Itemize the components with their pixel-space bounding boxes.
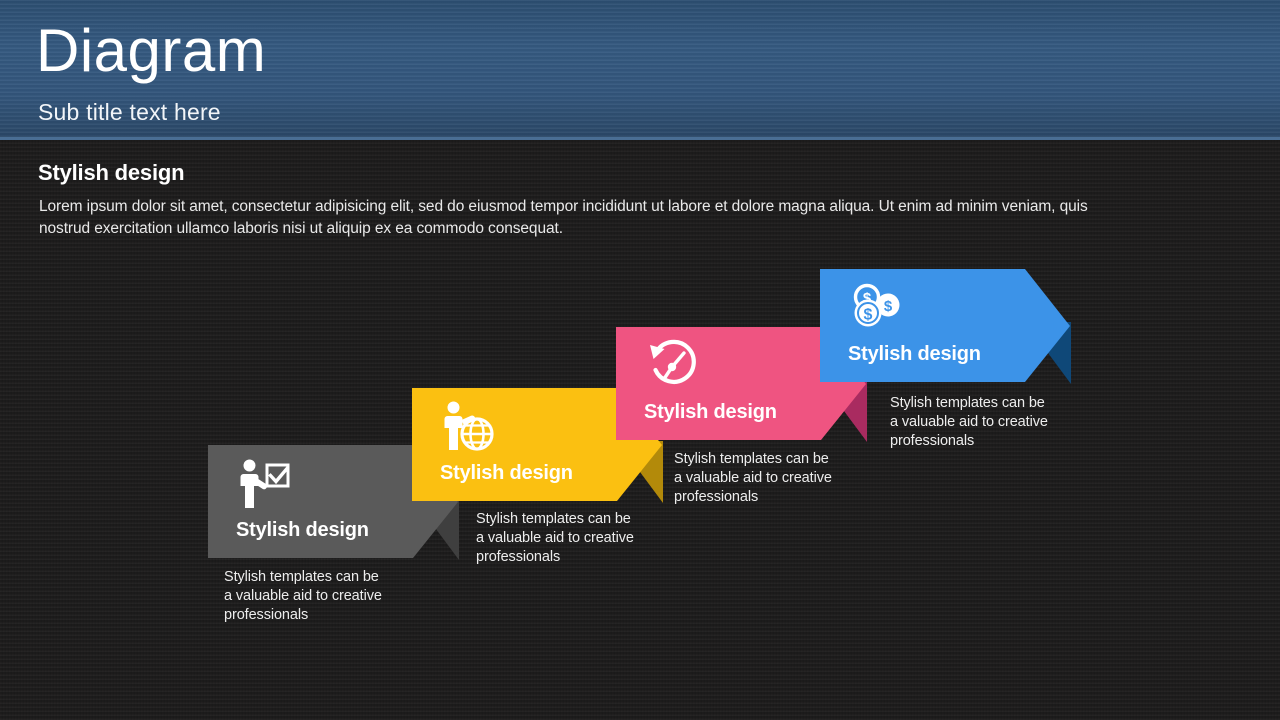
- person-presenting-checkbox-icon: [236, 457, 292, 511]
- coins-money-icon: $ $ $: [848, 281, 904, 335]
- intro-heading: Stylish design: [38, 160, 184, 186]
- page-title: Diagram: [36, 21, 266, 81]
- svg-text:$: $: [884, 298, 893, 315]
- slide-header: Diagram Sub title text here: [0, 0, 1280, 140]
- svg-text:$: $: [864, 307, 873, 324]
- step-description-blue: Stylish templates can be a valuable aid …: [890, 394, 1050, 451]
- intro-paragraph: Lorem ipsum dolor sit amet, consectetur …: [39, 196, 1119, 240]
- slide-canvas: Diagram Sub title text here Stylish desi…: [0, 0, 1280, 720]
- stopwatch-timer-icon: [644, 339, 700, 393]
- step-label-pink: Stylish design: [644, 401, 777, 424]
- step-label-blue: Stylish design: [848, 343, 981, 366]
- person-presenting-globe-icon: [440, 400, 496, 454]
- step-label-gray: Stylish design: [236, 519, 369, 542]
- step-description-yellow: Stylish templates can be a valuable aid …: [476, 510, 636, 567]
- step-description-gray: Stylish templates can be a valuable aid …: [224, 568, 384, 625]
- page-subtitle: Sub title text here: [38, 99, 221, 126]
- step-description-pink: Stylish templates can be a valuable aid …: [674, 450, 834, 507]
- step-label-yellow: Stylish design: [440, 462, 573, 485]
- step-banner-blue[interactable]: $ $ $ Stylish design: [820, 269, 1070, 382]
